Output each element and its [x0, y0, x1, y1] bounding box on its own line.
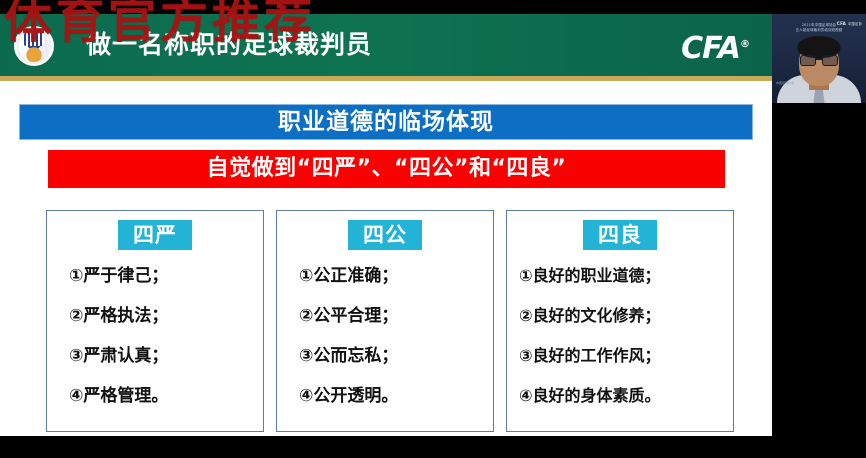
column-badge-sigong: 四公: [348, 220, 422, 250]
bottom-letterbox: [0, 436, 866, 458]
list-item: ①公正准确；: [299, 256, 493, 296]
column-list-sigong: ①公正准确； ②公平合理； ③公而忘私； ④公开透明。: [277, 256, 493, 416]
slide-content: 做一名称职的足球裁判员 CFA® 职业道德的临场体现 自觉做到“四严”、“四公”…: [0, 14, 772, 436]
presenter-glasses-icon: [799, 55, 839, 66]
video-caption-line-2: 五人制足球裁判员培训班视频: [788, 28, 850, 33]
video-cfa-logo: CFA中国足协: [837, 21, 862, 26]
list-item: ②公平合理；: [299, 296, 493, 336]
list-item: ④严格管理。: [69, 376, 263, 416]
list-item: ③良好的工作作风；: [519, 336, 733, 376]
section-title-banner: 职业道德的临场体现: [19, 104, 753, 140]
screen-stage: 做一名称职的足球裁判员 CFA® 职业道德的临场体现 自觉做到“四严”、“四公”…: [0, 0, 866, 458]
presenter-video-overlay[interactable]: 2021年中国足球协会 五人制足球裁判员培训班视频 CFA中国足协 中国足球协会: [772, 14, 866, 103]
top-letterbox: [0, 0, 772, 14]
cfa-wordmark: CFA®: [681, 28, 750, 66]
video-lower-text: 中国足球协会: [776, 81, 794, 85]
list-item: ①良好的职业道德；: [519, 256, 733, 296]
video-cfa-logo-sub: 中国足协: [848, 22, 862, 26]
column-box-sigong: 四公 ①公正准确； ②公平合理； ③公而忘私； ④公开透明。: [276, 210, 494, 432]
column-list-siliang: ①良好的职业道德； ②良好的文化修养； ③良好的工作作风； ④良好的身体素质。: [507, 256, 733, 416]
slide-header-title: 做一名称职的足球裁判员: [86, 14, 372, 76]
presenter-glasses-bridge: [816, 58, 823, 60]
list-item: ②良好的文化修养；: [519, 296, 733, 336]
emblem-stripes: [24, 33, 44, 46]
column-box-siliang: 四良 ①良好的职业道德； ②良好的文化修养； ③良好的工作作风； ④良好的身体素…: [506, 210, 734, 432]
content-columns: 四严 ①严于律己； ②严格执法； ③严肃认真； ④严格管理。 四公 ①公正准确；…: [46, 210, 734, 432]
column-box-siyan: 四严 ①严于律己； ②严格执法； ③严肃认真； ④严格管理。: [46, 210, 264, 432]
column-badge-siliang: 四良: [583, 220, 657, 250]
right-letterbox: [772, 103, 866, 458]
cfa-emblem-logo-icon: [14, 26, 54, 66]
slide-header-band: 做一名称职的足球裁判员 CFA®: [0, 14, 772, 76]
column-list-siyan: ①严于律己； ②严格执法； ③严肃认真； ④严格管理。: [47, 256, 263, 416]
list-item: ③公而忘私；: [299, 336, 493, 376]
gold-divider: [0, 76, 772, 81]
subtitle-banner: 自觉做到“四严”、“四公”和“四良”: [48, 150, 725, 188]
list-item: ②严格执法；: [69, 296, 263, 336]
registered-mark-icon: ®: [740, 39, 750, 50]
cfa-wordmark-text: CFA: [681, 31, 740, 66]
list-item: ①严于律己；: [69, 256, 263, 296]
list-item: ③严肃认真；: [69, 336, 263, 376]
column-badge-siyan: 四严: [118, 220, 192, 250]
list-item: ④公开透明。: [299, 376, 493, 416]
video-cfa-logo-text: CFA: [837, 21, 846, 26]
list-item: ④良好的身体素质。: [519, 376, 733, 416]
